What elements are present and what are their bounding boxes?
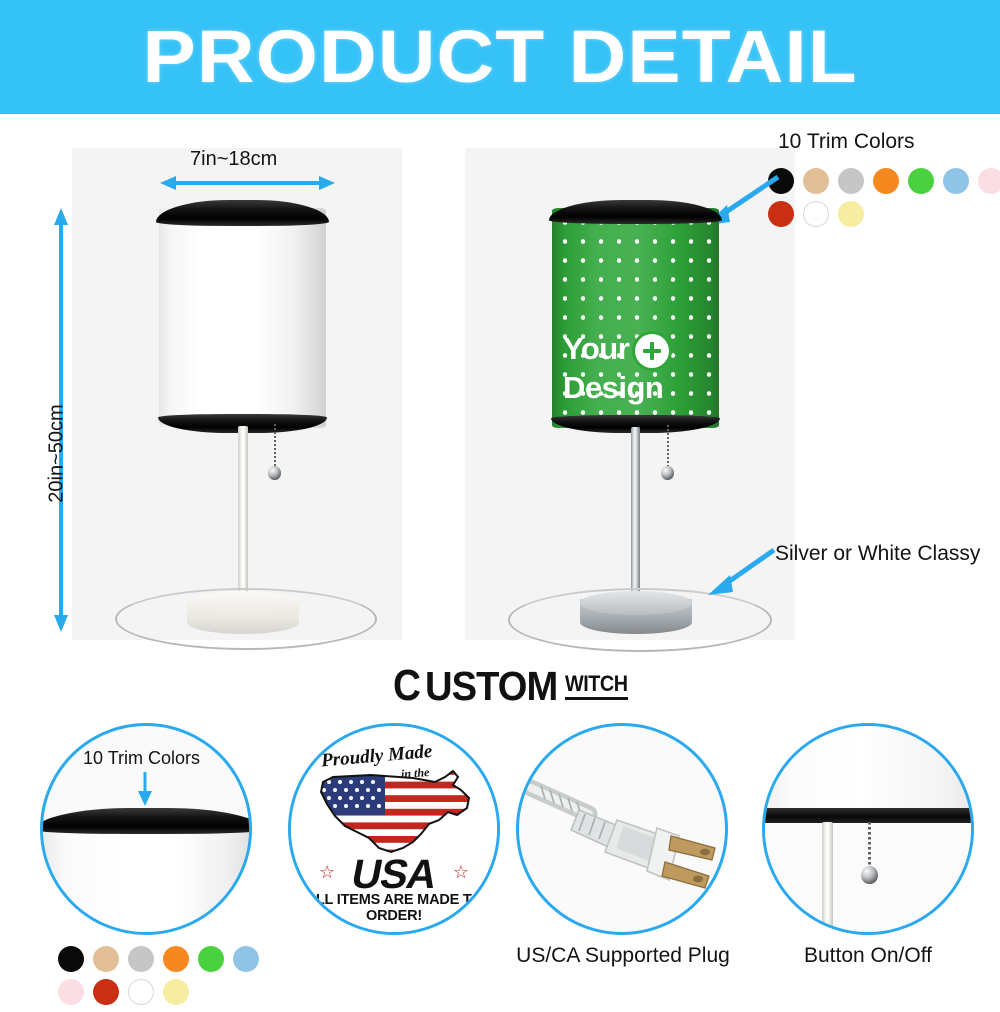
trim-color-swatch-light-blue[interactable] [233,946,259,972]
silver-base-top [580,591,692,615]
plug-panel-caption: US/CA Supported Plug [500,944,746,968]
trim-colors-down-arrow [136,772,154,806]
trim-colors-panel: 10 Trim Colors [40,723,252,935]
usa-badge: Proudly Made in the [291,726,497,932]
white-base-top [187,591,299,615]
made-in-usa-panel: Proudly Made in the [288,723,500,935]
trim-closeup-shade [40,820,252,935]
trim-color-swatch-pink[interactable] [58,979,84,1005]
green-lamp-chain-ball [661,466,674,480]
switch-panel-caption: Button On/Off [756,944,980,968]
silver-lamp-base [580,591,692,643]
usa-footer-text: ALL ITEMS ARE MADE TO ORDER! [291,892,497,924]
switch-panel [762,723,974,935]
height-dimension-label: 20in~50cm [46,384,69,524]
usa-flag-map-icon [317,768,479,856]
base-finish-label: Silver or White Classy [775,542,980,566]
your-design-text-1: Your [563,331,629,366]
trim-color-swatch-orange[interactable] [163,946,189,972]
white-shade-top-trim [156,200,329,226]
usa-star-left: ☆ [319,862,335,883]
trim-color-swatch-green[interactable] [198,946,224,972]
switch-closeup-trim [762,808,974,823]
trim-color-swatch-gray[interactable] [838,168,864,194]
header-banner: PRODUCT DETAIL [0,0,1000,114]
base-finish-arrow [702,545,780,597]
white-lamp [72,148,402,640]
switch-closeup-shade [762,723,974,812]
trim-color-swatch-tan[interactable] [803,168,829,194]
green-shade-top-trim [549,200,722,224]
brand-name: USTOM [425,666,557,707]
switch-closeup-pole [822,822,833,935]
your-design-overlay: Your Design [563,334,669,403]
trim-colors-swatch-row-top[interactable] [768,168,1000,234]
trim-color-swatch-yellow[interactable] [163,979,189,1005]
trim-color-swatch-white[interactable] [128,979,154,1005]
white-lamp-pull-chain [274,424,276,470]
white-lamp-chain-ball [268,466,281,480]
trim-color-swatch-red[interactable] [93,979,119,1005]
plus-icon [635,334,669,368]
trim-color-swatch-yellow[interactable] [838,201,864,227]
brand-mark-c: C [393,664,421,708]
page-title: PRODUCT DETAIL [142,20,857,94]
trim-color-swatch-gray[interactable] [128,946,154,972]
trim-color-swatch-tan[interactable] [93,946,119,972]
trim-color-swatch-orange[interactable] [873,168,899,194]
white-shade-surface [159,208,326,428]
infographic-canvas: PRODUCT DETAIL 7in~18cm 20in~50cm [0,0,1000,1000]
trim-color-swatch-black[interactable] [58,946,84,972]
white-lamp-shade [159,208,326,428]
green-lamp-pull-chain [667,425,669,470]
trim-closeup-black-band [40,808,252,834]
trim-color-swatch-pink[interactable] [978,168,1000,194]
brand-suffix: WITCH [565,672,628,699]
plug-panel [516,723,728,935]
trim-color-swatch-white[interactable] [803,201,829,227]
usa-star-right: ☆ [453,862,469,883]
brand-logo: C USTOM WITCH [393,664,635,708]
trim-colors-swatch-row-bottom[interactable] [58,946,278,1012]
trim-color-swatch-green[interactable] [908,168,934,194]
us-two-prong-plug-icon [519,726,728,935]
switch-pull-chain [868,822,871,870]
green-lamp-shade: Your Design [552,208,719,428]
white-lamp-base [187,591,299,643]
trim-color-swatch-light-blue[interactable] [943,168,969,194]
usa-country-text: USA [348,851,441,898]
your-design-line-2: Design [563,373,669,403]
your-design-line-1: Your [563,334,669,368]
switch-chain-ball [861,866,878,884]
trim-colors-label-bottom: 10 Trim Colors [83,748,200,769]
trim-colors-label-top: 10 Trim Colors [778,130,915,154]
